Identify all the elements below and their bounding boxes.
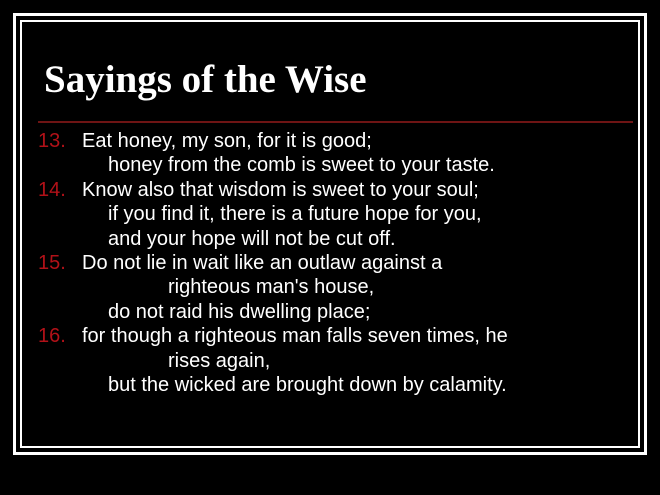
verse-line: righteous man's house, <box>38 275 638 299</box>
verse-text: if you find it, there is a future hope f… <box>108 203 482 225</box>
verse-list: 13.Eat honey, my son, for it is good;hon… <box>38 129 638 397</box>
verse-line: 15.Do not lie in wait like an outlaw aga… <box>38 251 638 275</box>
presentation-slide: Sayings of the Wise 13.Eat honey, my son… <box>0 0 660 495</box>
page-title: Sayings of the Wise <box>44 58 634 102</box>
verse-text: and your hope will not be cut off. <box>108 228 396 250</box>
verse-text: Do not lie in wait like an outlaw agains… <box>82 252 442 274</box>
title-divider-rule <box>38 121 633 123</box>
verse-text: righteous man's house, <box>168 276 374 298</box>
verse-number: 13. <box>38 129 82 153</box>
verse-line: rises again, <box>38 349 638 373</box>
verse-line: do not raid his dwelling place; <box>38 300 638 324</box>
verse-line: and your hope will not be cut off. <box>38 227 638 251</box>
verse-text: rises again, <box>168 350 270 372</box>
verse-item: 14.Know also that wisdom is sweet to you… <box>38 178 638 251</box>
verse-number: 16. <box>38 324 82 348</box>
verse-text: honey from the comb is sweet to your tas… <box>108 154 495 176</box>
verse-text: Eat honey, my son, for it is good; <box>82 130 372 152</box>
verse-text: Know also that wisdom is sweet to your s… <box>82 179 479 201</box>
verse-line: 16.for though a righteous man falls seve… <box>38 324 638 348</box>
verse-item: 15.Do not lie in wait like an outlaw aga… <box>38 251 638 324</box>
verse-text: for though a righteous man falls seven t… <box>82 325 508 347</box>
verse-number: 15. <box>38 251 82 275</box>
title-block: Sayings of the Wise <box>44 58 634 102</box>
verse-line: 13.Eat honey, my son, for it is good; <box>38 129 638 153</box>
verse-item: 13.Eat honey, my son, for it is good;hon… <box>38 129 638 178</box>
verse-line: 14.Know also that wisdom is sweet to you… <box>38 178 638 202</box>
verse-line: if you find it, there is a future hope f… <box>38 202 638 226</box>
verse-line: but the wicked are brought down by calam… <box>38 373 638 397</box>
verse-number: 14. <box>38 178 82 202</box>
verse-item: 16.for though a righteous man falls seve… <box>38 324 638 397</box>
verse-text: but the wicked are brought down by calam… <box>108 374 507 396</box>
verse-line: honey from the comb is sweet to your tas… <box>38 153 638 177</box>
verse-text: do not raid his dwelling place; <box>108 301 370 323</box>
